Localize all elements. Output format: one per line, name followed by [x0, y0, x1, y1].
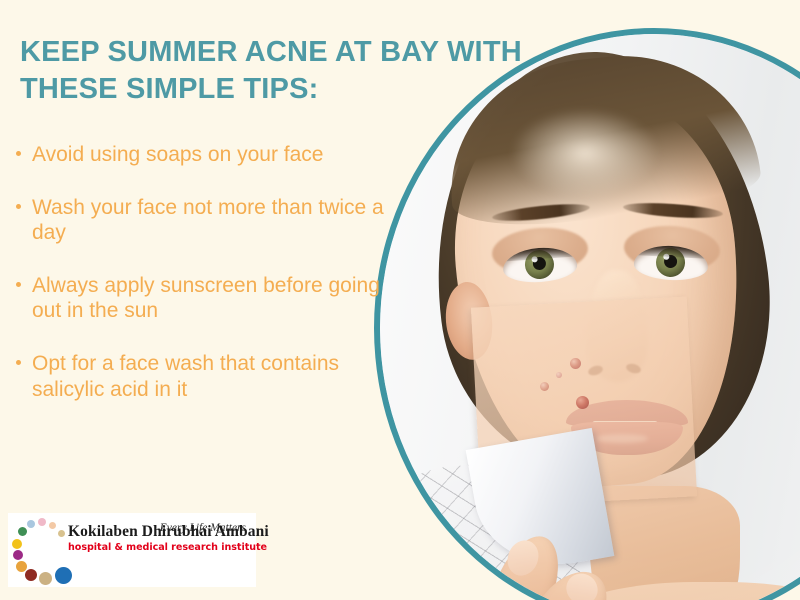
model-photo-ellipse [374, 28, 800, 600]
logo-text-block: Kokilaben Dhirubhai Ambani hospital & me… [68, 523, 254, 553]
dot-beige-icon [39, 572, 52, 585]
tip-text: Wash your face not more than twice a day [32, 196, 384, 245]
tips-list: Avoid using soaps on your face Wash your… [14, 142, 406, 429]
dot-maroon-icon [25, 569, 37, 581]
bullet-dot-icon [16, 282, 21, 287]
acne-spot [540, 382, 549, 391]
poster-canvas: KEEP SUMMER ACNE AT BAY WITH THESE SIMPL… [0, 0, 800, 600]
dot-green-icon [18, 527, 27, 536]
dot-blue-icon [55, 567, 72, 584]
forehead-highlight [510, 108, 660, 198]
headline-line-1: KEEP SUMMER ACNE AT BAY WITH [20, 34, 560, 71]
bullet-dot-icon [16, 204, 21, 209]
hospital-logo: Kokilaben Dhirubhai Ambani hospital & me… [8, 513, 256, 587]
headline-line-2: THESE SIMPLE TIPS: [20, 71, 560, 108]
dot-yellow-icon [12, 539, 22, 549]
acne-spot [556, 372, 562, 378]
list-item: Avoid using soaps on your face [14, 142, 406, 168]
dot-peach-icon [49, 522, 56, 529]
acne-spot [570, 358, 581, 369]
list-item: Wash your face not more than twice a day [14, 195, 406, 246]
list-item: Opt for a face wash that contains salicy… [14, 351, 406, 402]
model-photo [380, 34, 800, 600]
page-title: KEEP SUMMER ACNE AT BAY WITH THESE SIMPL… [20, 34, 560, 108]
tip-text: Always apply sunscreen before going out … [32, 274, 380, 323]
tip-text: Opt for a face wash that contains salicy… [32, 352, 339, 401]
tip-text: Avoid using soaps on your face [32, 143, 323, 166]
list-item: Always apply sunscreen before going out … [14, 273, 406, 324]
bullet-dot-icon [16, 360, 21, 365]
logo-subtitle: hospital & medical research institute [68, 542, 254, 553]
acne-spot [576, 396, 589, 409]
dot-magenta-icon [13, 550, 23, 560]
logo-name: Kokilaben Dhirubhai Ambani [68, 523, 254, 541]
bullet-dot-icon [16, 151, 21, 156]
dot-pink-icon [38, 518, 46, 526]
dot-tan-small-icon [58, 530, 65, 537]
dot-lightblue-icon [27, 520, 35, 528]
